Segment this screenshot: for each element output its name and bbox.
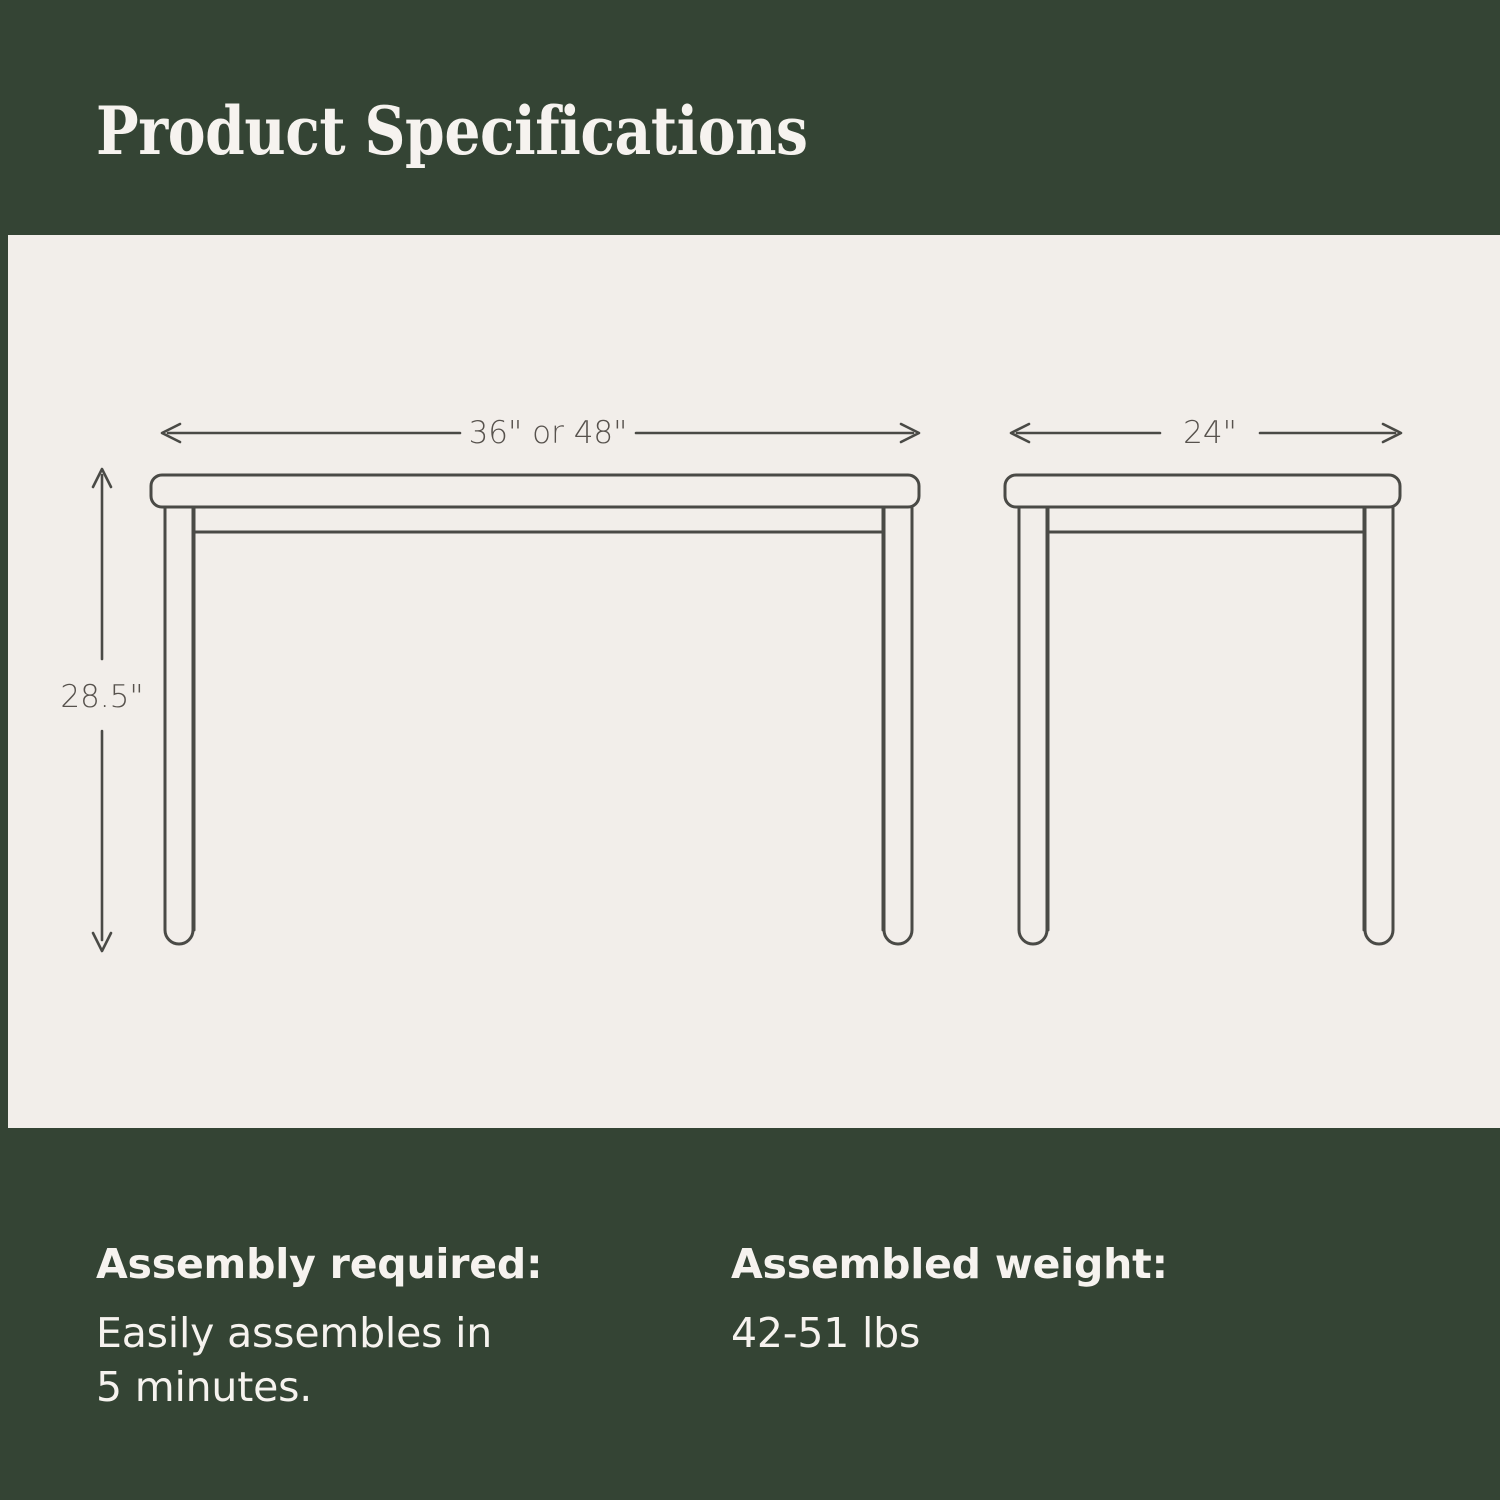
width-dimension-label: 36" or 48" (469, 415, 628, 451)
tabletop-front (151, 475, 919, 507)
spec-assembly-required: Assembly required: Easily assembles in 5… (96, 1240, 656, 1415)
depth-dimension-label: 24" (1183, 415, 1237, 451)
leg-front-left (165, 507, 193, 944)
table-dimension-drawing: 36" or 48" 24" 28.5" (8, 235, 1500, 1128)
spec-weight-value: 42-51 lbs (731, 1306, 1291, 1360)
spec-assembled-weight: Assembled weight: 42-51 lbs (731, 1240, 1291, 1360)
apron-front (194, 507, 884, 532)
product-spec-card: Product Specifications (0, 0, 1500, 1500)
table-side-view (1005, 475, 1400, 944)
apron-side (1048, 507, 1365, 532)
leg-side-right (1365, 507, 1393, 944)
spec-assembly-value: Easily assembles in 5 minutes. (96, 1306, 656, 1414)
tabletop-side (1005, 475, 1400, 507)
leg-side-left (1019, 507, 1047, 944)
spec-assembly-label: Assembly required: (96, 1240, 656, 1288)
height-dimension-label: 28.5" (60, 679, 143, 715)
leg-front-right (884, 507, 912, 944)
page-title: Product Specifications (96, 92, 808, 170)
header-band: Product Specifications (0, 0, 1500, 235)
table-front-view (151, 475, 919, 944)
spec-weight-label: Assembled weight: (731, 1240, 1291, 1288)
footer-band: Assembly required: Easily assembles in 5… (0, 1128, 1500, 1500)
diagram-panel: 36" or 48" 24" 28.5" (8, 235, 1500, 1128)
